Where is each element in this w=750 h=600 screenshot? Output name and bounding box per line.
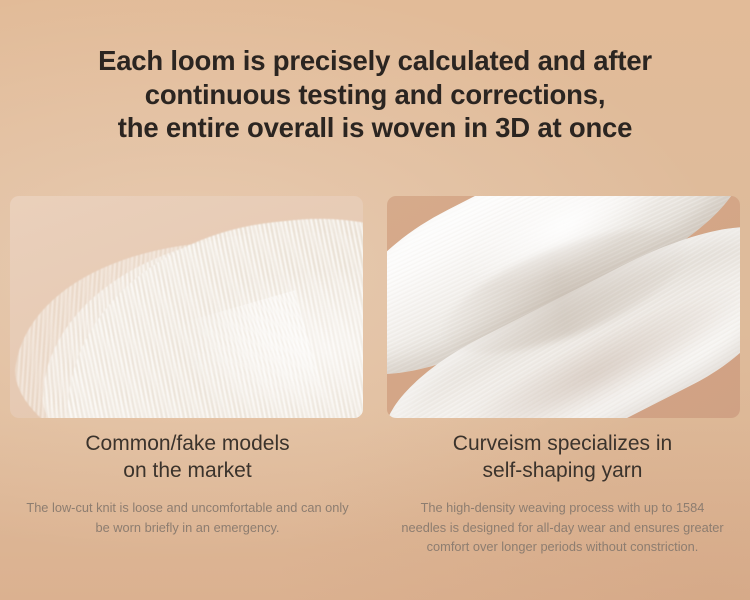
- caption-left-body: The low-cut knit is loose and uncomforta…: [22, 498, 353, 537]
- twisted-yarn-photo: [387, 196, 740, 418]
- fiber-fan-group: [49, 199, 363, 418]
- comparison-panels: [0, 196, 750, 418]
- caption-left: Common/fake models on the market The low…: [0, 430, 375, 557]
- caption-left-title-line-1: Common/fake models: [22, 430, 353, 457]
- yarn-strand-group: [387, 196, 740, 418]
- caption-right-body: The high-density weaving process with up…: [397, 498, 728, 557]
- panel-common-fake-models: [10, 196, 363, 418]
- caption-right-title-line-2: self-shaping yarn: [397, 457, 728, 484]
- headline-line-3: the entire overall is woven in 3D at onc…: [0, 111, 750, 145]
- caption-right: Curveism specializes in self-shaping yar…: [375, 430, 750, 557]
- panel-captions: Common/fake models on the market The low…: [0, 430, 750, 557]
- page-title: Each loom is precisely calculated and af…: [0, 44, 750, 145]
- caption-right-title-line-1: Curveism specializes in: [397, 430, 728, 457]
- headline-line-1: Each loom is precisely calculated and af…: [0, 44, 750, 78]
- caption-left-title: Common/fake models on the market: [22, 430, 353, 484]
- loose-fiber-photo: [10, 196, 363, 418]
- caption-right-title: Curveism specializes in self-shaping yar…: [397, 430, 728, 484]
- headline-line-2: continuous testing and corrections,: [0, 78, 750, 112]
- panel-curveism-yarn: [387, 196, 740, 418]
- caption-left-title-line-2: on the market: [22, 457, 353, 484]
- promo-poster: Each loom is precisely calculated and af…: [0, 0, 750, 600]
